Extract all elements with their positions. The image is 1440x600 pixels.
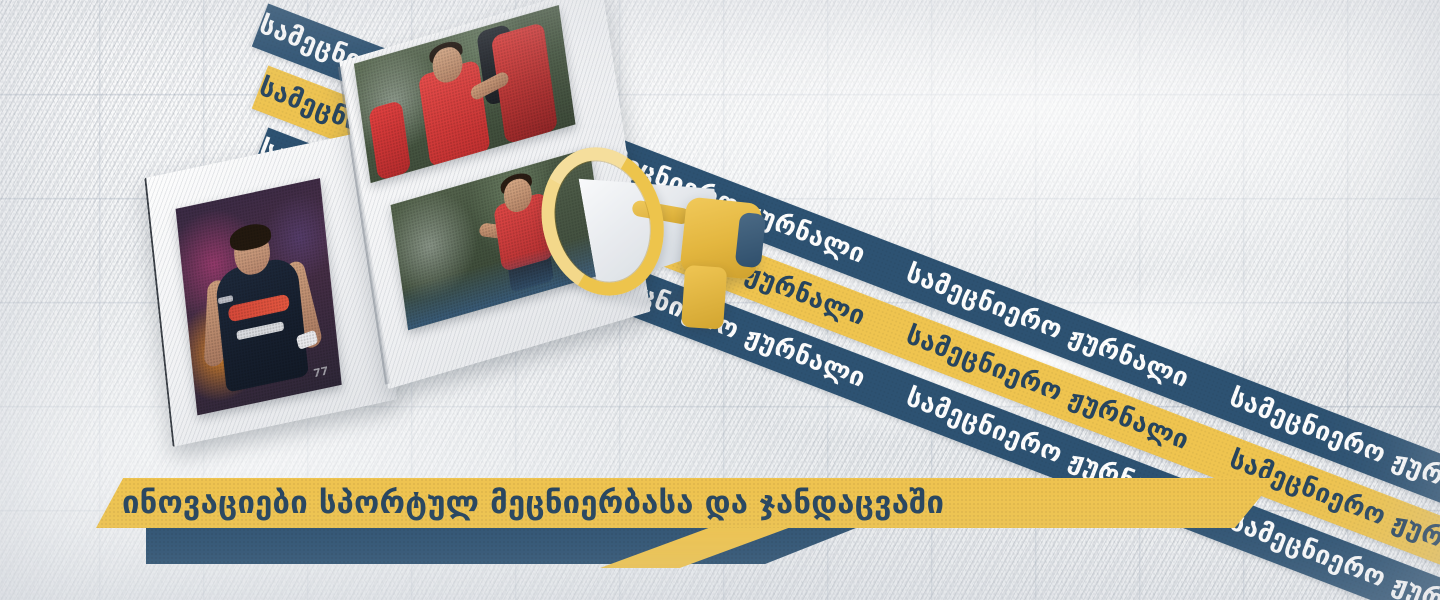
page-title: ინოვაციები სპორტულ მეცნიერბასა და ჯანდაც… bbox=[122, 478, 1122, 528]
title-banner: ინოვაციები სპორტულ მეცნიერბასა და ჯანდაც… bbox=[0, 460, 1440, 600]
megaphone-icon bbox=[526, 121, 766, 343]
napoli-player-photo: 77 bbox=[176, 178, 342, 415]
photo-halftone bbox=[176, 178, 342, 415]
megaphone-handle bbox=[681, 265, 727, 330]
banner-canvas: სამეცნიერო ჟურნალი სამეცნიერო ჟურნალი სა… bbox=[0, 0, 1440, 600]
